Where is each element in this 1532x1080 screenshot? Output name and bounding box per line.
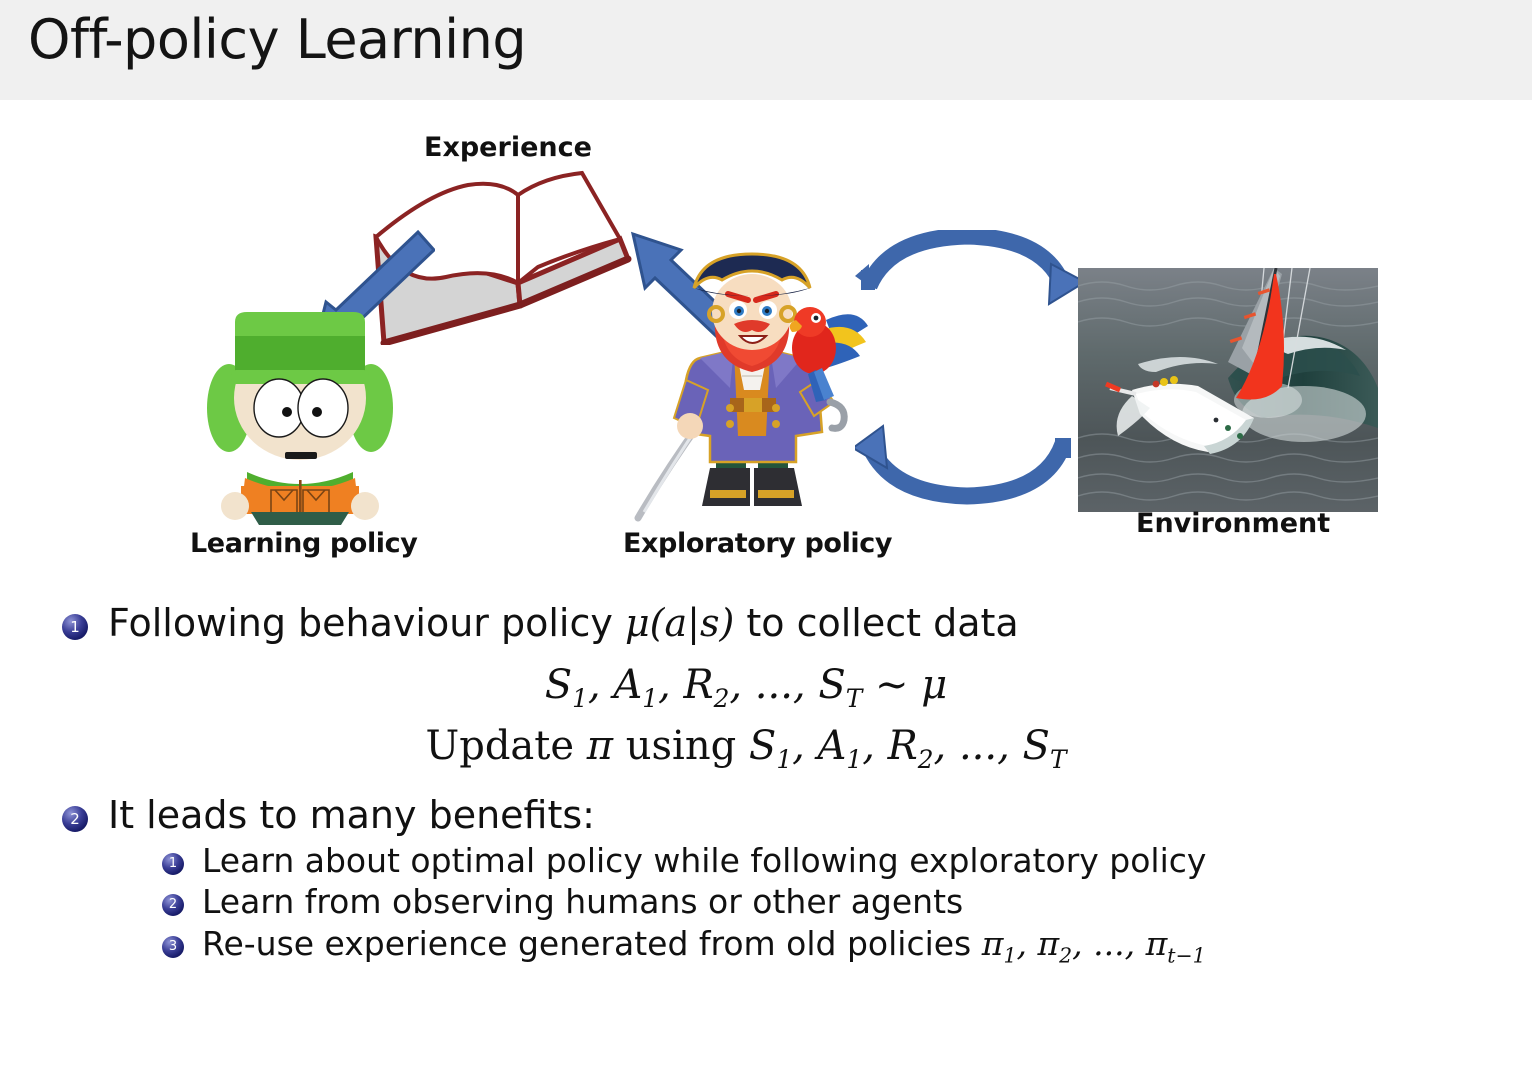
list-item: 1 Learn about optimal policy while follo… [162,841,1532,881]
bullet-text-2: It leads to many benefits: [108,792,595,838]
cycle-arrows-policy-environment [855,230,1085,505]
bullet-badge-2: 2 [62,806,88,832]
diagram-label-exploratory-policy: Exploratory policy [623,528,892,559]
sub-bullet-badge-3: 3 [162,936,184,958]
bullet-1-math: μ(a|s) [625,601,734,645]
bullet-text-1: Following behaviour policy μ(a|s) to col… [108,600,1019,646]
page-title: Off-policy Learning [28,8,526,71]
sub-bullet-badge-1: 1 [162,853,184,875]
off-policy-diagram: Experience [0,100,1532,580]
bullet-1-pre: Following behaviour policy [108,601,625,645]
list-item: 1 Following behaviour policy μ(a|s) to c… [62,600,1532,646]
bullet-1-post: to collect data [734,601,1018,645]
pirate-with-parrot-character [630,250,880,525]
equation-sampling: S1, A1, R2, ..., ST ∼ μ [0,656,1532,717]
sailboat-rough-sea-photo [1078,268,1378,512]
equation-block: S1, A1, R2, ..., ST ∼ μ Update π using S… [0,656,1532,778]
sub-bullet-badge-2: 2 [162,894,184,916]
sub-bullet-text-1: Learn about optimal policy while followi… [202,841,1206,881]
slide-body-content: 1 Following behaviour policy μ(a|s) to c… [0,600,1532,968]
sub-bullet-text-2: Learn from observing humans or other age… [202,882,963,922]
bullet-badge-1: 1 [62,614,88,640]
list-item: 3 Re-use experience generated from old p… [162,924,1532,968]
south-park-kyle-character [205,300,395,525]
sub-bullet-text-3: Re-use experience generated from old pol… [202,924,1206,968]
equation-update: Update π using S1, A1, R2, ..., ST [0,717,1532,778]
diagram-label-learning-policy: Learning policy [190,528,417,559]
diagram-label-environment: Environment [1136,508,1330,539]
list-item: 2 It leads to many benefits: [62,792,1532,838]
list-item: 2 Learn from observing humans or other a… [162,882,1532,922]
cycle-arrow-bottom [855,426,1071,496]
cycle-arrow-top [855,236,1085,304]
